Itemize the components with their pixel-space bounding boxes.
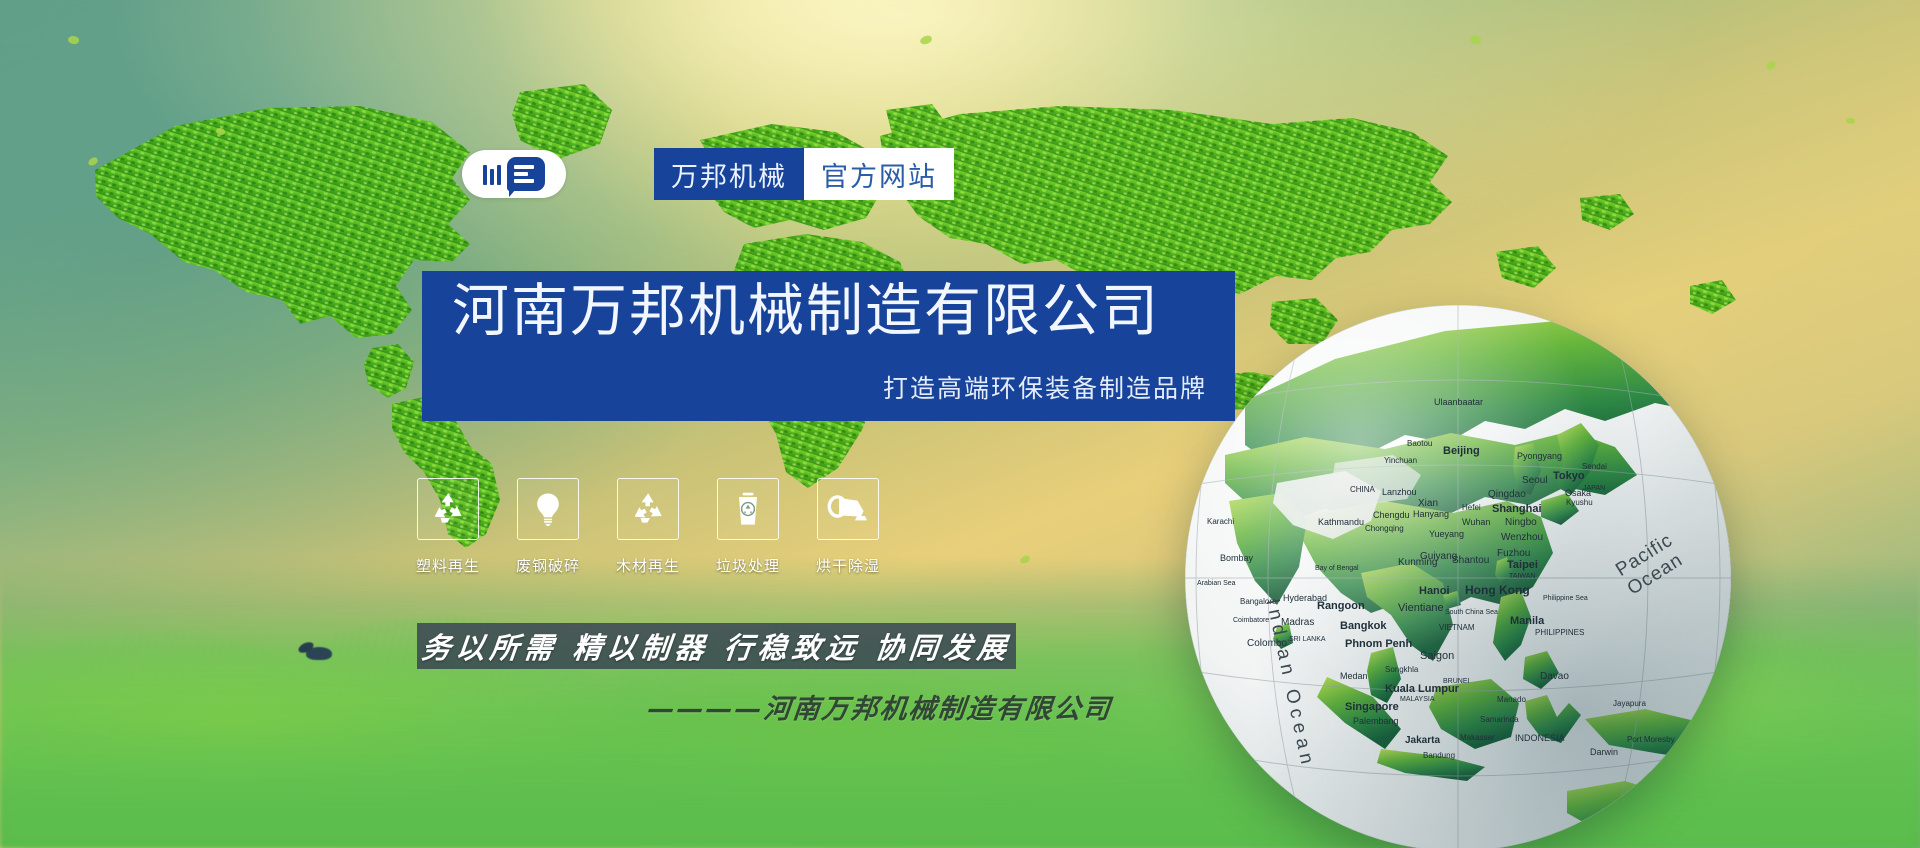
feature-wood-recycling[interactable]: 木材再生 bbox=[618, 478, 678, 576]
company-name-title: 河南万邦机械制造有限公司 bbox=[452, 283, 1160, 340]
feature-drying-dehumidifying[interactable]: 烘干除湿 bbox=[818, 478, 878, 576]
globe-graphic: UlaanbaatarBeijingBaotouYinchuanPyongyan… bbox=[1185, 305, 1731, 848]
lightbulb-icon bbox=[528, 489, 568, 529]
feature-icon-box bbox=[617, 478, 679, 540]
feature-label: 烘干除湿 bbox=[816, 555, 880, 576]
insect bbox=[306, 647, 332, 660]
feature-icon-box bbox=[817, 478, 879, 540]
dryer-drum-icon bbox=[827, 492, 869, 526]
feature-icon-box bbox=[717, 478, 779, 540]
logo-b-bubble-icon bbox=[507, 157, 545, 191]
company-tagline: 打造高端环保装备制造品牌 bbox=[883, 369, 1207, 405]
nav-tabs: 万邦机械 官方网站 bbox=[654, 148, 954, 200]
tab-wanbang-jixie[interactable]: 万邦机械 bbox=[654, 148, 804, 200]
slogan-text: 务以所需 精以制器 行稳致远 协同发展 bbox=[420, 625, 1014, 667]
hero-banner-page: UlaanbaatarBeijingBaotouYinchuanPyongyan… bbox=[0, 0, 1920, 848]
tab-official-site[interactable]: 官方网站 bbox=[804, 148, 954, 200]
trash-bin-icon bbox=[728, 489, 768, 529]
feature-icon-box bbox=[517, 478, 579, 540]
feature-icon-box bbox=[417, 478, 479, 540]
feature-label: 废钢破碎 bbox=[516, 555, 580, 576]
recycle-icon bbox=[428, 489, 468, 529]
slogan-signature: ————河南万邦机械制造有限公司 bbox=[646, 687, 1114, 726]
company-banner: 河南万邦机械制造有限公司 打造高端环保装备制造品牌 bbox=[422, 271, 1235, 421]
logo-w-icon bbox=[483, 163, 501, 185]
slogan-band: 务以所需 精以制器 行稳致远 协同发展 bbox=[417, 623, 1016, 669]
recycle-icon bbox=[628, 489, 668, 529]
feature-plastic-recycling[interactable]: 塑料再生 bbox=[418, 478, 478, 576]
globe-sphere: UlaanbaatarBeijingBaotouYinchuanPyongyan… bbox=[1185, 305, 1731, 848]
feature-label: 木材再生 bbox=[616, 555, 680, 576]
feature-label: 垃圾处理 bbox=[716, 555, 780, 576]
feature-scrap-steel-shredding[interactable]: 废钢破碎 bbox=[518, 478, 578, 576]
feature-waste-treatment[interactable]: 垃圾处理 bbox=[718, 478, 778, 576]
wanbang-logo[interactable] bbox=[462, 150, 566, 198]
feature-icon-row: 塑料再生 废钢破碎 bbox=[418, 478, 878, 576]
site-header: 万邦机械 官方网站 bbox=[462, 148, 954, 200]
feature-label: 塑料再生 bbox=[416, 555, 480, 576]
